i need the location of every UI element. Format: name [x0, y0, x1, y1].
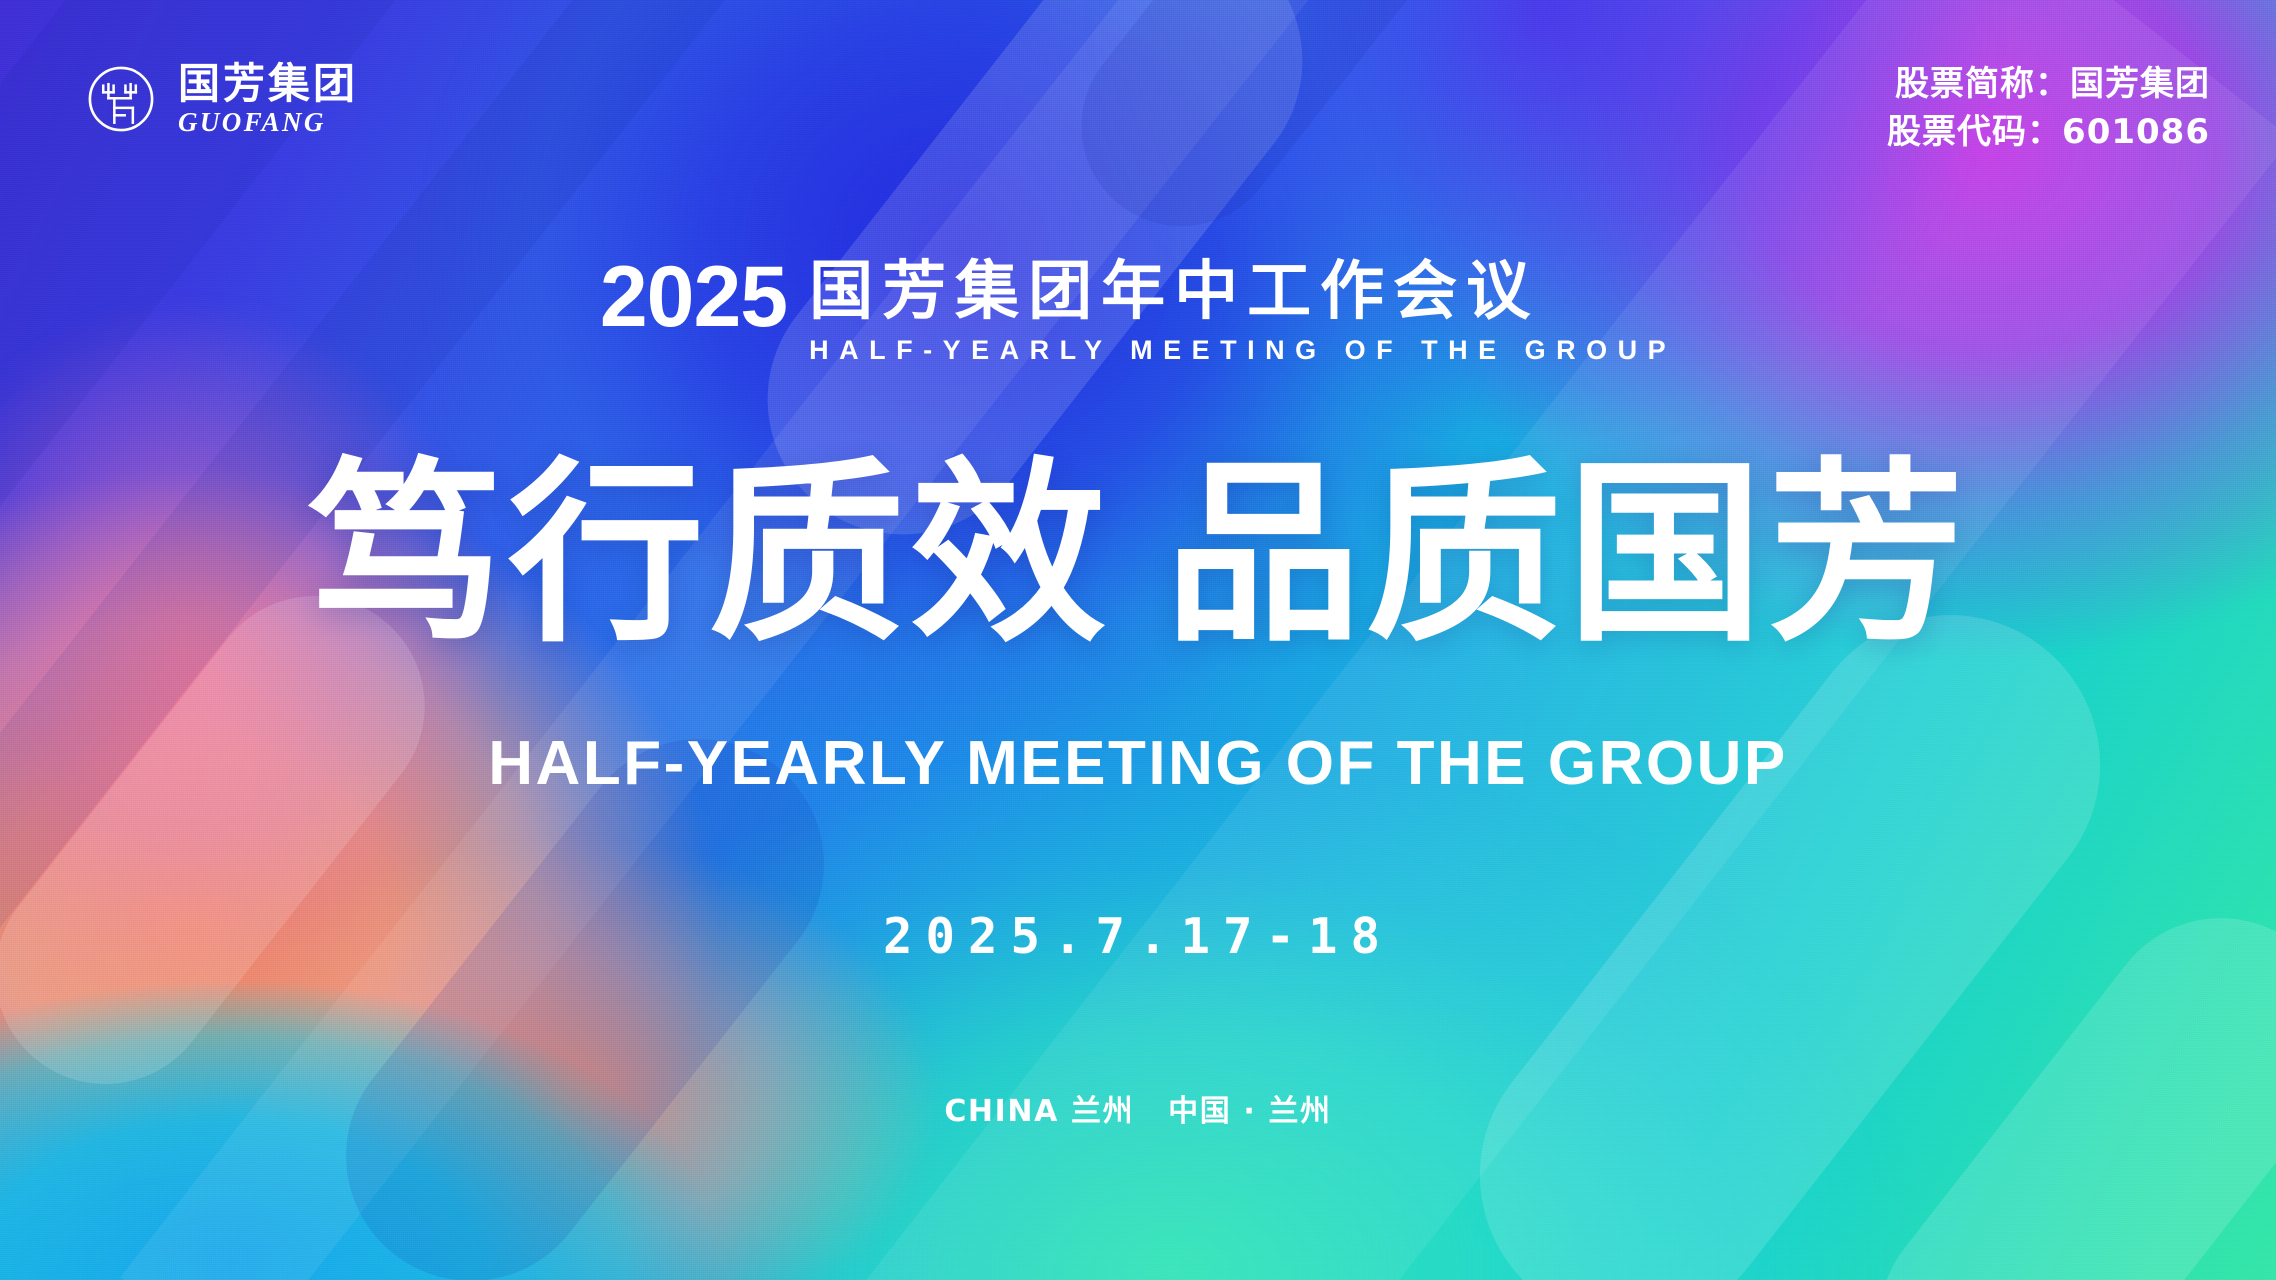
event-location-cn: 中国 · 兰州 [1168, 1094, 1332, 1129]
meeting-year: 2025 [600, 258, 787, 337]
meeting-title-band: 2025 国芳集团年中工作会议 HALF-YEARLY MEETING OF T… [0, 258, 2276, 366]
deer-in-circle-logo-icon [84, 62, 158, 136]
brand-name-en: GUOFANG [178, 109, 358, 136]
event-date: 2025.7.17-18 [0, 908, 2276, 965]
conference-banner: 国芳集团 GUOFANG 股票简称：国芳集团 股票代码：601086 2025 … [0, 0, 2276, 1280]
stock-info-block: 股票简称：国芳集团 股票代码：601086 [1887, 60, 2210, 157]
stock-name-line: 股票简称：国芳集团 [1887, 60, 2210, 108]
event-location: CHINA 兰州中国 · 兰州 [0, 1086, 2276, 1130]
stock-code-line: 股票代码：601086 [1887, 108, 2210, 156]
brand-logo-lockup: 国芳集团 GUOFANG [84, 62, 358, 136]
headline-subtitle-en: HALF-YEARLY MEETING OF THE GROUP [0, 728, 2276, 799]
headline-part-two: 品质国芳 [1165, 441, 1969, 669]
brand-name-cn: 国芳集团 [178, 63, 358, 105]
headline-part-one: 笃行质效 [307, 441, 1111, 669]
headline-slogan: 笃行质效品质国芳 [0, 452, 2276, 660]
event-location-en: CHINA 兰州 [944, 1094, 1134, 1129]
meeting-title-en: HALF-YEARLY MEETING OF THE GROUP [809, 335, 1676, 366]
meeting-title-cn: 国芳集团年中工作会议 [809, 260, 1676, 325]
